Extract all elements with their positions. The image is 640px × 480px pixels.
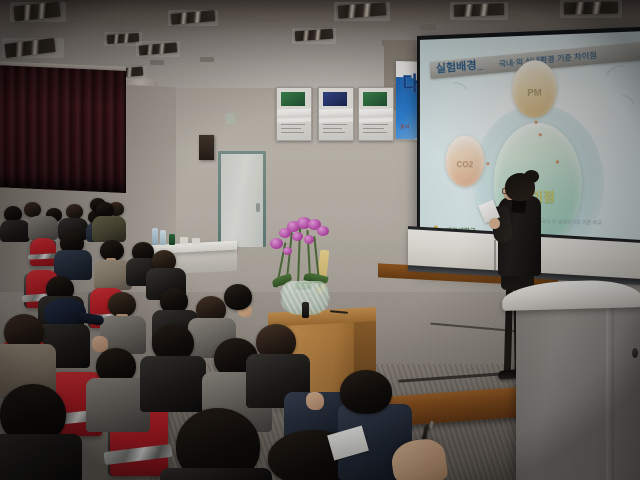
banner-date-label: 일시 [400,123,410,130]
poster-header [281,92,305,106]
poster-text-line [363,124,388,125]
poster-text-line [363,128,384,129]
slide-accent-dot [539,133,542,136]
poster-glare [358,117,394,123]
audience-head [340,370,392,414]
lectern-knob[interactable] [632,348,638,358]
audience-torso [140,356,206,412]
poster-text-line [323,128,342,129]
poster-text-line [281,132,304,133]
audience-head [66,204,83,219]
ceiling-light-fixture [454,3,504,17]
wall-sign [226,113,235,124]
slide-accent-dot [534,121,537,124]
slide-title-main: 실험배경_ [436,59,484,76]
poster-glare [318,108,354,116]
auditorium-seat [30,238,56,266]
poster-text-line [323,124,347,125]
presenter-hand [489,218,500,229]
wall-poster [358,87,394,141]
poster-text-line [363,132,387,133]
ceiling-vent [260,16,278,22]
audience-torso [0,434,82,480]
ceiling-vent [420,24,436,30]
wall-poster [318,87,354,141]
poster-glare [276,117,312,123]
poster-text-line [323,132,345,133]
poster-glare [318,117,354,123]
poster-text-line [281,124,305,125]
wall-speaker [199,135,214,160]
poster-glare [358,108,394,116]
ceiling-vent [200,57,214,62]
slide-bubble-pm-label: PM [512,87,557,98]
wall-poster [276,87,312,141]
lectern-edge [606,300,614,480]
poster-header [363,92,387,106]
audience-head [24,202,41,217]
audience-hand [306,392,324,410]
slide-accent-dot [486,162,489,165]
audience-head [224,284,252,310]
audience-torso [0,220,30,242]
ceiling-light-fixture [564,2,618,15]
cabinet-seam [494,240,496,274]
poster-header [323,92,347,106]
presenter-hair-bun [524,170,539,183]
audience-torso [92,216,126,242]
audience-torso [28,216,58,240]
stage-curtain [0,65,126,193]
poster-glare [276,108,312,116]
slide-accent-dot [556,160,559,163]
slide-bubble-co2-label: CO2 [446,160,485,169]
poster-text-line [281,128,301,129]
lectern [516,300,640,480]
photo-scene: 대구 대 일시 2009. 11. 실험배경_ 국내·외 실내환경 기준 차이점… [0,0,640,480]
slide-bubble-co2: CO2 [446,136,485,187]
audience-torso [160,468,272,480]
ceiling-vent [150,60,164,65]
